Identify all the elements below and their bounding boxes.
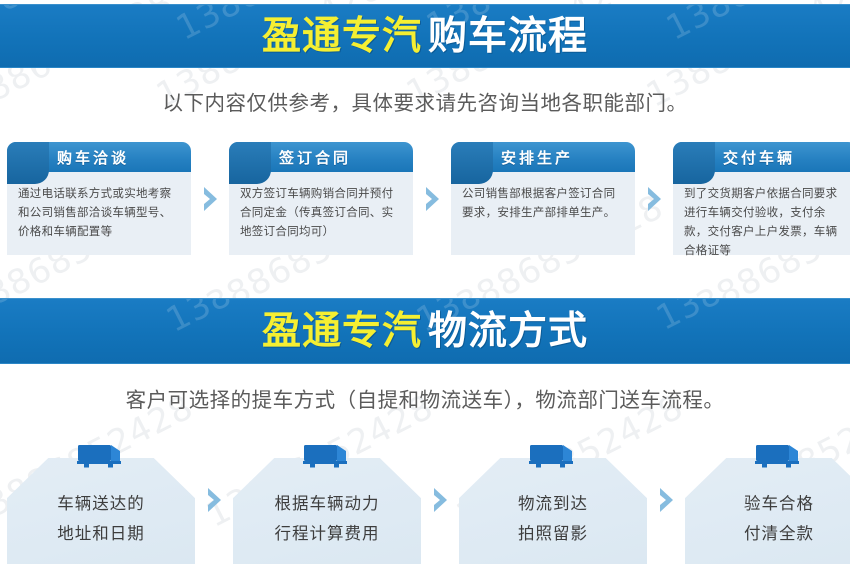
step-body: 双方签订车辆购销合同并预付合同定金（传真签订合同、实地签订合同均可） [229,172,413,255]
page-root: 13886852428 13886852428 13886852428 1388… [0,0,850,564]
step-header: 4 交付车辆 [673,142,850,172]
step-body: 公司销售部根据客户签订合同要求，安排生产部排单生产。 [451,172,635,255]
purchase-steps-row: 1 购车洽谈 通过电话联系方式或实地考察和公司销售部洽谈车辆型号、价格和车辆配置… [0,142,850,260]
logistics-subtitle: 客户可选择的提车方式（自提和物流送车），物流部门送车流程。 [0,383,850,413]
truck-icon [526,442,580,472]
purchase-banner-brand: 盈通专汽 [262,17,422,56]
logistics-card-shape: 车辆送达的 地址和日期 [7,458,195,564]
purchase-banner-inner: 盈通专汽 购车流程 [0,5,850,67]
logistics-banner-inner: 盈通专汽 物流方式 [0,299,850,363]
logistics-card-line-1: 车辆送达的 [57,489,145,519]
logistics-step-card[interactable]: 物流到达 拍照留影 [459,442,647,564]
logistics-card-shape: 根据车辆动力 行程计算费用 [233,458,421,564]
logistics-step-card[interactable]: 车辆送达的 地址和日期 [7,442,195,564]
step-header: 1 购车洽谈 [7,142,191,172]
logistics-card-line-1: 物流到达 [518,489,588,519]
logistics-card-line-2: 拍照留影 [518,519,588,549]
step-body: 到了交货期客户依据合同要求进行车辆交付验收，支付余款，交付客户上户发票，车辆合格… [673,172,850,255]
purchase-step-card[interactable]: 1 购车洽谈 通过电话联系方式或实地考察和公司销售部洽谈车辆型号、价格和车辆配置… [7,142,191,255]
chevron-right-icon [432,487,449,513]
chevron-right-icon [424,186,441,212]
step-title: 安排生产 [501,147,573,168]
logistics-banner: 13886852428 13886852428 13886852428 1388… [0,298,850,364]
purchase-step-card[interactable]: 3 安排生产 公司销售部根据客户签订合同要求，安排生产部排单生产。 [451,142,635,255]
purchase-step-card[interactable]: 4 交付车辆 到了交货期客户依据合同要求进行车辆交付验收，支付余款，交付客户上户… [673,142,850,255]
logistics-step-card[interactable]: 验车合格 付清全款 [685,442,850,564]
chevron-right-icon [646,186,663,212]
purchase-banner: 13886852428 13886852428 13886852428 1388… [0,4,850,68]
logistics-card-shape: 验车合格 付清全款 [685,458,850,564]
logistics-card-shape: 物流到达 拍照留影 [459,458,647,564]
logistics-banner-brand: 盈通专汽 [262,312,422,351]
step-number-tab [7,142,49,184]
logistics-card-text: 根据车辆动力 行程计算费用 [275,489,380,549]
step-header: 2 签订合同 [229,142,413,172]
step-number-tab [451,142,493,184]
logistics-banner-title: 物流方式 [428,312,588,351]
logistics-card-line-1: 验车合格 [744,489,814,519]
purchase-banner-title: 购车流程 [428,17,588,56]
logistics-card-line-2: 地址和日期 [57,519,145,549]
logistics-card-text: 车辆送达的 地址和日期 [57,489,145,549]
purchase-subtitle: 以下内容仅供参考，具体要求请先咨询当地各职能部门。 [0,86,850,116]
logistics-card-line-2: 行程计算费用 [275,519,380,549]
logistics-card-text: 验车合格 付清全款 [744,489,814,549]
truck-icon [74,442,128,472]
logistics-card-line-2: 付清全款 [744,519,814,549]
truck-icon [752,442,806,472]
chevron-right-icon [202,186,219,212]
logistics-card-line-1: 根据车辆动力 [275,489,380,519]
step-arrow [191,142,229,255]
logistics-step-card[interactable]: 根据车辆动力 行程计算费用 [233,442,421,564]
step-number-tab [673,142,715,184]
logistics-card-text: 物流到达 拍照留影 [518,489,588,549]
step-title: 交付车辆 [723,147,795,168]
logistics-arrow [647,442,685,564]
step-title: 签订合同 [279,147,351,168]
step-header: 3 安排生产 [451,142,635,172]
chevron-right-icon [658,487,675,513]
step-arrow [413,142,451,255]
step-title: 购车洽谈 [57,147,129,168]
step-number-tab [229,142,271,184]
purchase-step-card[interactable]: 2 签订合同 双方签订车辆购销合同并预付合同定金（传真签订合同、实地签订合同均可… [229,142,413,255]
chevron-right-icon [206,487,223,513]
logistics-steps-row: 车辆送达的 地址和日期 根据车辆动力 行程计算费用 [0,432,850,564]
step-arrow [635,142,673,255]
logistics-arrow [195,442,233,564]
logistics-arrow [421,442,459,564]
step-body: 通过电话联系方式或实地考察和公司销售部洽谈车辆型号、价格和车辆配置等 [7,172,191,255]
truck-icon [300,442,354,472]
